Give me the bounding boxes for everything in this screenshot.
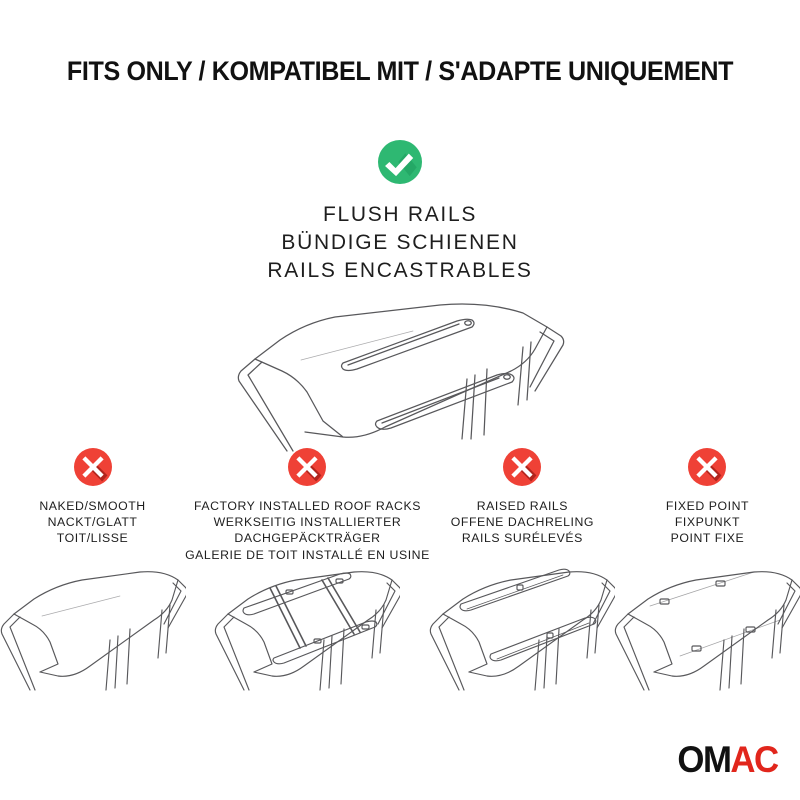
option-label-fr: RAILS SURÉLEVÉS [451, 530, 594, 546]
option-label-en: NAKED/SMOOTH [39, 498, 145, 514]
compatible-label-fr: RAILS ENCASTRABLES [267, 257, 532, 285]
option-factory-installed-roof-racks: FACTORY INSTALLED ROOF RACKS WERKSEITIG … [185, 448, 430, 563]
option-label-en: FIXED POINT [666, 498, 749, 514]
page-title: FITS ONLY / KOMPATIBEL MIT / S'ADAPTE UN… [28, 56, 772, 87]
compatible-label-en: FLUSH RAILS [267, 201, 532, 229]
x-circle-icon [288, 448, 326, 486]
omac-logo-ac: AC [731, 739, 778, 780]
option-raised-rails-labels: RAISED RAILS OFFENE DACHRELING RAILS SUR… [451, 498, 594, 547]
option-raised-rails: RAISED RAILS OFFENE DACHRELING RAILS SUR… [430, 448, 615, 547]
omac-logo-om: OM [678, 739, 731, 780]
option-label-en: FACTORY INSTALLED ROOF RACKS [185, 498, 430, 514]
option-label-en: RAISED RAILS [451, 498, 594, 514]
option-naked-smooth: NAKED/SMOOTH NACKT/GLATT TOIT/LISSE [0, 448, 185, 547]
option-factory-racks-labels: FACTORY INSTALLED ROOF RACKS WERKSEITIG … [185, 498, 430, 563]
compatible-section: FLUSH RAILS BÜNDIGE SCHIENEN RAILS ENCAS… [0, 140, 800, 459]
x-circle-icon [74, 448, 112, 486]
car-roof-naked-illustration [0, 566, 186, 706]
option-naked-smooth-labels: NAKED/SMOOTH NACKT/GLATT TOIT/LISSE [39, 498, 145, 547]
option-label-fr: TOIT/LISSE [39, 530, 145, 546]
option-label-de-1: WERKSEITIG INSTALLIERTER [185, 514, 430, 530]
option-label-de: FIXPUNKT [666, 514, 749, 530]
option-label-de-2: DACHGEPÄCKTRÄGER [185, 530, 430, 546]
option-fixed-point: FIXED POINT FIXPUNKT POINT FIXE [615, 448, 800, 547]
compatible-label-de: BÜNDIGE SCHIENEN [267, 229, 532, 257]
incompatible-options-row: NAKED/SMOOTH NACKT/GLATT TOIT/LISSE [0, 448, 800, 563]
compatible-labels: FLUSH RAILS BÜNDIGE SCHIENEN RAILS ENCAS… [267, 201, 532, 285]
x-circle-icon [688, 448, 726, 486]
x-circle-icon [503, 448, 541, 486]
option-label-de: NACKT/GLATT [39, 514, 145, 530]
option-label-de: OFFENE DACHRELING [451, 514, 594, 530]
car-roof-raised-rails-illustration [429, 566, 615, 706]
option-label-fr: POINT FIXE [666, 530, 749, 546]
option-fixed-point-labels: FIXED POINT FIXPUNKT POINT FIXE [666, 498, 749, 547]
option-label-fr: GALERIE DE TOIT INSTALLÉ EN USINE [185, 547, 430, 563]
car-roof-factory-racks-illustration [214, 566, 400, 706]
car-roof-fixed-point-illustration [614, 566, 800, 706]
car-roof-flush-rails-illustration [235, 299, 565, 459]
omac-logo: OMAC [678, 741, 778, 778]
check-circle-icon [378, 140, 422, 184]
